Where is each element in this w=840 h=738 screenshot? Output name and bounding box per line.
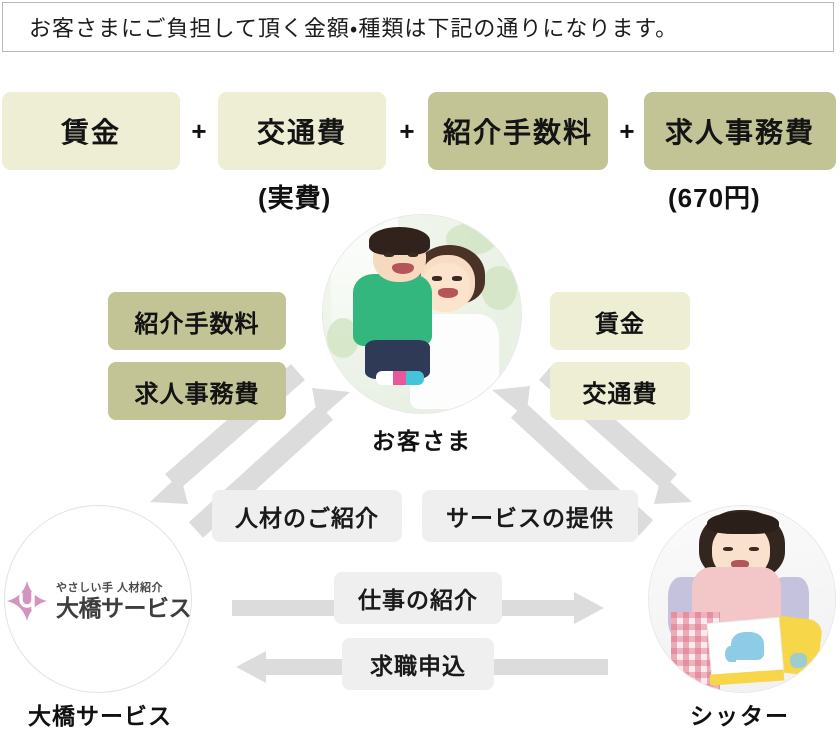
cost-right-transport: 交通費 bbox=[550, 362, 690, 420]
customer-label: お客さま bbox=[322, 422, 522, 456]
formula-operator-2: + bbox=[394, 118, 420, 144]
flow-label-job-introduction: 仕事の紹介 bbox=[334, 572, 502, 624]
agency-logo-name: 大橋サービス bbox=[56, 597, 191, 620]
note-transport-actual-cost: (実費) bbox=[258, 178, 331, 215]
customer-photo bbox=[322, 214, 522, 414]
agency-logo-tagline: やさしい手 人材紹介 bbox=[56, 583, 191, 594]
formula-term-transport: 交通費 bbox=[218, 92, 386, 170]
formula-term-referral-fee: 紹介手数料 bbox=[428, 92, 608, 170]
cost-left-referral-fee: 紹介手数料 bbox=[108, 292, 286, 350]
formula-operator-1: + bbox=[186, 118, 212, 144]
flow-label-service-provision: サービスの提供 bbox=[422, 490, 638, 542]
node-customer bbox=[322, 214, 522, 414]
sitter-label: シッター bbox=[640, 697, 840, 731]
note-admin-fee-amount: (670円) bbox=[668, 178, 761, 215]
node-agency: やさしい手 人材紹介 大橋サービス bbox=[4, 505, 192, 693]
ohashi-star-logo-icon bbox=[5, 579, 49, 623]
cost-right-wage: 賃金 bbox=[550, 292, 690, 350]
formula-term-wage: 賃金 bbox=[2, 92, 180, 170]
agency-label: 大橋サービス bbox=[0, 697, 200, 731]
formula-term-admin-fee: 求人事務費 bbox=[644, 92, 836, 170]
agency-logo-circle: やさしい手 人材紹介 大橋サービス bbox=[4, 505, 192, 693]
formula-operator-3: + bbox=[614, 118, 640, 144]
flow-label-referral-of-staff: 人材のご紹介 bbox=[212, 490, 402, 542]
cost-formula-row: 賃金 + 交通費 + 紹介手数料 + 求人事務費 bbox=[0, 92, 840, 170]
node-sitter bbox=[648, 505, 836, 693]
sitter-photo bbox=[648, 505, 836, 693]
header-text: お客さまにご負担して頂く金額・種類は下記の通りになります。 bbox=[29, 11, 678, 43]
header-banner: お客さまにご負担して頂く金額・種類は下記の通りになります。 bbox=[2, 2, 834, 52]
flow-label-job-application: 求職申込 bbox=[342, 638, 494, 690]
cost-left-admin-fee: 求人事務費 bbox=[108, 362, 286, 420]
